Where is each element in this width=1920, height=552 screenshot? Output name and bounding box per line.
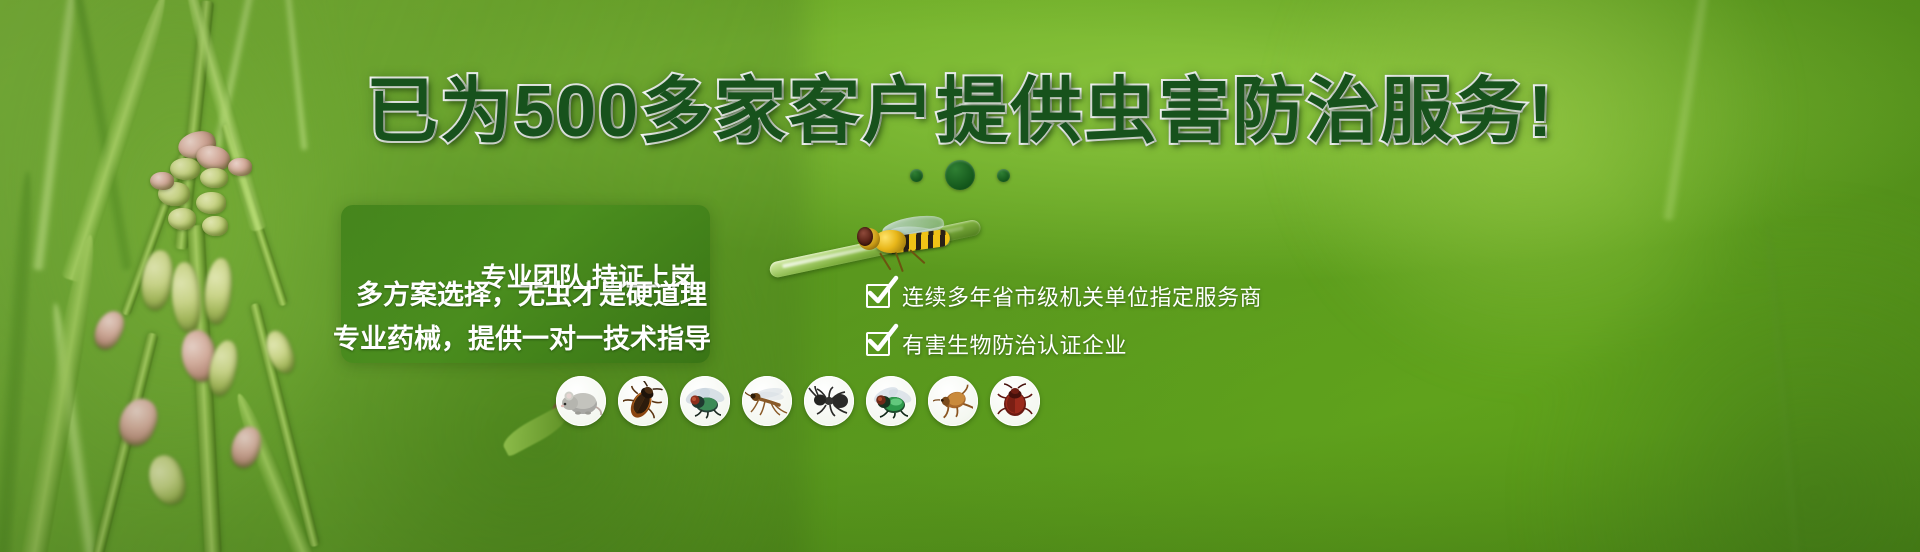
list-item: 有害生物防治认证企业 xyxy=(866,320,1286,368)
flea-icon xyxy=(933,383,973,419)
headline-text: 已为500多家客户提供虫害防治服务! xyxy=(366,72,1554,152)
features-panel-line-1: 专业团队,持证上岗 xyxy=(341,261,696,303)
pest-badge-housefly[interactable] xyxy=(680,376,730,426)
hoverfly-eye xyxy=(857,227,873,246)
pest-badge-bedbug[interactable] xyxy=(990,376,1040,426)
pest-badge-mosquito[interactable] xyxy=(742,376,792,426)
greenbottle-fly-icon xyxy=(870,383,912,419)
pest-control-banner: 已为500多家客户提供虫害防治服务! 专业团队,持证上岗 多方案选择，无虫才是硬… xyxy=(0,0,1920,552)
pest-badge-flea[interactable] xyxy=(928,376,978,426)
mosquito-icon xyxy=(745,384,789,418)
checkbox-checked-icon xyxy=(866,332,890,356)
hoverfly-icon xyxy=(848,215,950,271)
checklist-item-label: 连续多年省市级机关单位指定服务商 xyxy=(902,280,1262,312)
decor-dot-small-right xyxy=(997,169,1010,182)
pest-badge-cockroach[interactable] xyxy=(618,376,668,426)
pest-types-row xyxy=(556,376,1040,426)
hoverfly-leg xyxy=(895,253,904,272)
decor-dot-small-left xyxy=(910,169,923,182)
features-panel: 专业团队,持证上岗 xyxy=(341,205,710,363)
bedbug-icon xyxy=(996,382,1034,420)
hoverfly-leg xyxy=(879,252,891,270)
housefly-icon xyxy=(684,383,726,419)
certification-checklist: 连续多年省市级机关单位指定服务商 有害生物防治认证企业 xyxy=(866,272,1286,368)
decorative-dots-row xyxy=(0,160,1920,190)
page-title: 已为500多家客户提供虫害防治服务! xyxy=(0,76,1920,148)
ant-icon xyxy=(808,385,850,417)
list-item: 连续多年省市级机关单位指定服务商 xyxy=(866,272,1286,320)
checkbox-checked-icon xyxy=(866,284,890,308)
checklist-item-label: 有害生物防治认证企业 xyxy=(902,328,1127,360)
pest-badge-greenbottle-fly[interactable] xyxy=(866,376,916,426)
cockroach-icon xyxy=(623,381,663,421)
decor-dot-large-center xyxy=(945,160,975,190)
pest-badge-mouse[interactable] xyxy=(556,376,606,426)
hoverfly-leg xyxy=(909,249,925,264)
pest-badge-ant[interactable] xyxy=(804,376,854,426)
mouse-icon xyxy=(560,385,602,417)
